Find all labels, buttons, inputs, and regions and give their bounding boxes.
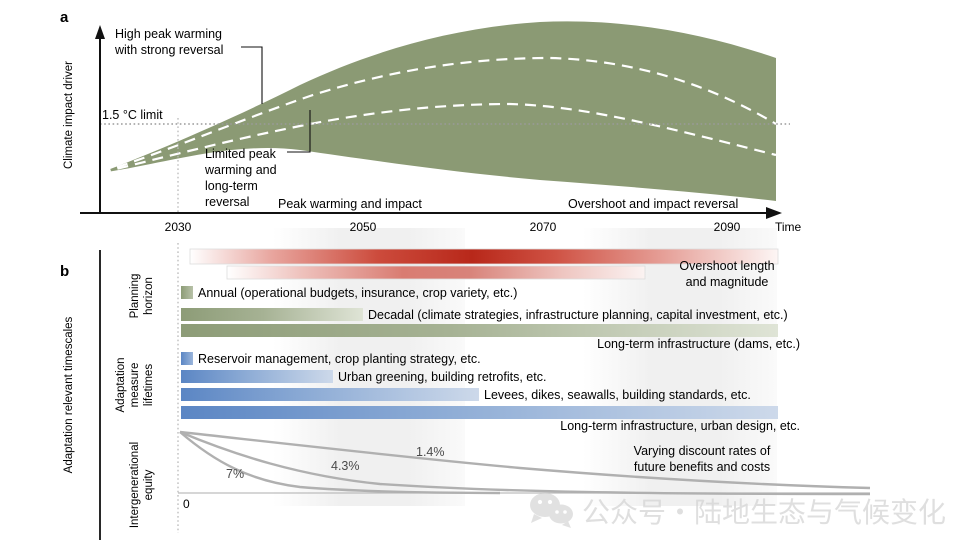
- panel-a-xaxis-arrow: [766, 207, 782, 219]
- urban-greening-bar-label: Urban greening, building retrofits, etc.: [338, 370, 546, 384]
- group-label-aml-line2: measure: [129, 363, 141, 408]
- watermark: 公众号・陆地生态与气候变化: [530, 493, 946, 529]
- annotation-high-peak-line1: High peak warming: [115, 27, 222, 41]
- annotation-limited-peak-line4: reversal: [205, 195, 249, 209]
- group-label-planning-horizon-line2: horizon: [143, 277, 155, 315]
- annotation-limited-peak-line3: long-term: [205, 179, 258, 193]
- overshoot-bar-2: [227, 266, 645, 279]
- group-label-aml-line3: lifetimes: [143, 364, 155, 406]
- watermark-text: 公众号・陆地生态与气候变化: [582, 496, 946, 529]
- longterm-infra-bar-label: Long-term infrastructure (dams, etc.): [597, 337, 800, 351]
- tick-label-2050: 2050: [350, 220, 377, 234]
- panel-a-yaxis-arrow: [95, 25, 105, 39]
- panel-a-ylabel: Climate impact driver: [63, 61, 75, 169]
- equity-note-line1: Varying discount rates of: [634, 444, 771, 458]
- figure-root: a Climate impact driver 1.5 °C limit Hig…: [0, 0, 960, 549]
- annual-bar: [181, 286, 193, 299]
- phase-label-overshoot-reversal: Overshoot and impact reversal: [568, 197, 738, 211]
- urban-greening-bar: [181, 370, 333, 383]
- longterm-urban-bar: [181, 406, 778, 419]
- group-label-ige-line1: Intergenerational: [129, 442, 141, 528]
- tick-label-2090: 2090: [714, 220, 741, 234]
- discount-label-4-3: 4.3%: [331, 459, 360, 473]
- panel-b-letter: b: [60, 263, 69, 280]
- annotation-limited-peak-line1: Limited peak: [205, 147, 277, 161]
- annotation-high-peak-line2: with strong reversal: [114, 43, 223, 57]
- group-label-aml-line1: Adaptation: [115, 358, 127, 413]
- annotation-limited-peak-line2: warming and: [204, 163, 277, 177]
- annual-bar-label: Annual (operational budgets, insurance, …: [198, 286, 517, 300]
- wechat-icon: [530, 493, 573, 528]
- panel-a-letter: a: [60, 9, 69, 26]
- figure-svg: a Climate impact driver 1.5 °C limit Hig…: [0, 0, 960, 549]
- tick-label-2070: 2070: [530, 220, 557, 234]
- levees-bar-label: Levees, dikes, seawalls, building standa…: [484, 388, 751, 402]
- equity-zero-label: 0: [183, 497, 190, 511]
- reservoir-bar: [181, 352, 193, 365]
- overshoot-note-line2: and magnitude: [686, 275, 769, 289]
- discount-label-7: 7%: [226, 467, 244, 481]
- levees-bar: [181, 388, 479, 401]
- tick-label-2030: 2030: [165, 220, 192, 234]
- threshold-label: 1.5 °C limit: [102, 108, 163, 122]
- panel-a-xlabel: Time: [775, 220, 802, 234]
- longterm-infra-bar: [181, 324, 778, 337]
- decadal-bar-label: Decadal (climate strategies, infrastruct…: [368, 308, 788, 322]
- phase-label-peak-warming: Peak warming and impact: [278, 197, 422, 211]
- equity-note-line2: future benefits and costs: [634, 460, 770, 474]
- group-label-planning-horizon-line1: Planning: [129, 274, 141, 319]
- discount-label-1-4: 1.4%: [416, 445, 445, 459]
- decadal-bar: [181, 308, 363, 321]
- longterm-urban-bar-label: Long-term infrastructure, urban design, …: [560, 419, 800, 433]
- overshoot-note-line1: Overshoot length: [679, 259, 774, 273]
- leader-high-peak: [241, 47, 262, 104]
- group-label-ige-line2: equity: [143, 469, 155, 500]
- panel-b-ylabel: Adaptation relevant timescales: [63, 316, 75, 473]
- panel-a: a Climate impact driver 1.5 °C limit Hig…: [60, 9, 802, 234]
- reservoir-bar-label: Reservoir management, crop planting stra…: [198, 352, 481, 366]
